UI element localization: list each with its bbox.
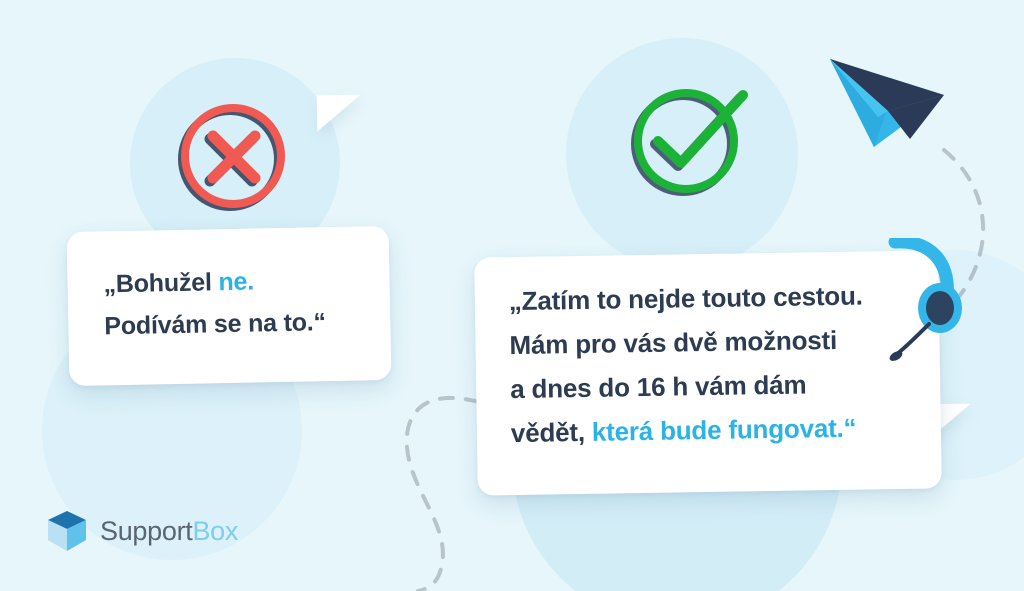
- cross-circle-icon: [173, 97, 293, 217]
- bubble-two-line-4-highlight: která bude fungovat.“: [592, 413, 857, 447]
- cube-logo-icon: [46, 509, 88, 553]
- check-circle-icon: [622, 76, 754, 202]
- bubble-one-line-1: „Bohužel ne.: [103, 269, 254, 298]
- bubble-one-line-1-prefix: „Bohužel: [103, 268, 218, 298]
- bubble-two-line-3: a dnes do 16 h vám dám: [510, 371, 807, 403]
- negative-reply-bubble: „Bohužel ne. Podívám se na to.“: [67, 226, 392, 386]
- bubble-two-line-4: vědět, která bude fungovat.“: [511, 415, 857, 447]
- bubble-two-line-1: „Zatím to nejde touto cestou.: [509, 283, 863, 316]
- supportbox-logo[interactable]: SupportBox: [46, 509, 238, 553]
- bubble-one-line-2: Podívám se na to.“: [104, 309, 326, 339]
- bubble-two-line-4-prefix: vědět,: [511, 417, 592, 448]
- positive-reply-bubble: „Zatím to nejde touto cestou. Mám pro vá…: [474, 250, 942, 495]
- logo-word-support: Support: [100, 516, 192, 546]
- promo-illustration: „Bohužel ne. Podívám se na to.“ „Zatím t…: [0, 0, 1024, 591]
- bubble-two-line-2: Mám pro vás dvě možnosti: [509, 327, 837, 359]
- logo-word-box: Box: [192, 516, 238, 546]
- logo-wordmark: SupportBox: [100, 516, 238, 547]
- headset-icon: [885, 238, 965, 368]
- bubble-one-line-1-highlight: ne.: [218, 268, 254, 297]
- bubble-one-tail: [317, 95, 362, 132]
- paper-plane-icon: [826, 51, 948, 157]
